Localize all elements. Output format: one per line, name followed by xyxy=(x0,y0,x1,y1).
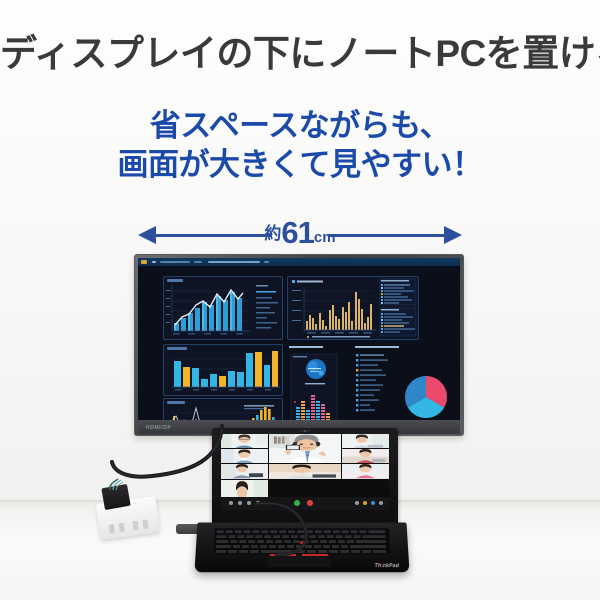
dashboard xyxy=(138,258,460,420)
join-button[interactable] xyxy=(294,500,300,506)
dashboard-grid xyxy=(141,268,457,417)
video-tile[interactable] xyxy=(342,449,389,463)
dimension-label: 約61cm xyxy=(138,215,462,251)
share-icon[interactable] xyxy=(247,501,251,505)
dimension-prefix: 約 xyxy=(264,224,281,243)
panel-title xyxy=(167,401,185,404)
outlet-socket[interactable] xyxy=(142,519,148,529)
dimension-value: 61 xyxy=(281,215,313,250)
keyboard-row xyxy=(216,545,388,548)
trackpad-left-button[interactable] xyxy=(270,554,296,556)
pie-graphic xyxy=(405,376,447,418)
dimension-annotation: 約61cm xyxy=(138,218,462,252)
panel-title xyxy=(167,279,183,282)
external-monitor: HDMI/DP xyxy=(134,254,464,436)
participants-icon[interactable] xyxy=(256,501,260,505)
camera-icon[interactable] xyxy=(238,501,242,505)
toolbar-title xyxy=(208,261,260,263)
settings-icon[interactable] xyxy=(371,501,375,505)
toolbar-item[interactable] xyxy=(194,261,202,263)
monitor-screen[interactable] xyxy=(138,258,460,420)
pie-chart-panel xyxy=(354,345,460,420)
video-tile[interactable] xyxy=(269,464,341,478)
webcam-icon xyxy=(300,430,310,432)
chart-legend xyxy=(256,285,278,329)
outlet-socket[interactable] xyxy=(133,521,139,531)
laptop-brand-logo: ThinkPad xyxy=(375,563,400,569)
chart-panel-mid-center[interactable] xyxy=(287,344,351,420)
cyan-amber-bar-chart xyxy=(164,345,282,395)
video-tile[interactable] xyxy=(221,434,268,448)
laptop-lid xyxy=(212,428,398,524)
plug-wire xyxy=(106,478,124,490)
laptop-screen[interactable] xyxy=(221,434,389,510)
chart-legend-list xyxy=(380,279,416,336)
keyboard-row xyxy=(216,550,389,553)
outlet-socket[interactable] xyxy=(119,523,125,533)
trackpad[interactable] xyxy=(268,556,331,567)
video-tile-active-speaker[interactable] xyxy=(269,434,341,463)
laptop-base: ThinkPad xyxy=(194,522,409,572)
page-title: ディスプレイの下にノートPCを置ける xyxy=(0,34,600,75)
subtitle-line-1: 省スペースながらも、 xyxy=(0,106,600,146)
video-tile[interactable] xyxy=(342,434,389,448)
reaction-icon[interactable] xyxy=(363,501,367,505)
end-call-button[interactable] xyxy=(307,500,313,506)
video-tile[interactable] xyxy=(221,464,268,478)
keyboard[interactable] xyxy=(214,528,391,554)
monitor-brand-logo: HDMI/DP xyxy=(146,425,171,431)
toolbar-icon[interactable] xyxy=(152,261,156,263)
chart-panel-bottom-left[interactable] xyxy=(163,398,283,420)
toolbar-action[interactable] xyxy=(264,261,269,263)
chart-panel-top-right[interactable] xyxy=(287,276,419,340)
panel-title xyxy=(167,347,187,350)
mic-icon[interactable] xyxy=(229,501,233,505)
trackpad-right-button[interactable] xyxy=(302,554,328,556)
laptop: ThinkPad xyxy=(196,428,408,588)
video-tile[interactable] xyxy=(342,464,389,478)
dashboard-toolbar[interactable] xyxy=(138,258,460,266)
chart-panel-bottom-right[interactable] xyxy=(353,344,460,420)
video-tile[interactable] xyxy=(221,449,268,463)
pie-legend xyxy=(356,354,388,411)
subtitle-line-2: 画面が大きくて見やすい！ xyxy=(0,145,600,185)
app-logo-icon xyxy=(141,260,147,264)
chat-icon[interactable] xyxy=(355,501,359,505)
trackpoint-icon[interactable] xyxy=(300,541,302,543)
gold-histogram-chart xyxy=(288,277,418,339)
outlet-socket[interactable] xyxy=(109,524,115,534)
chart-panel-mid-left[interactable] xyxy=(163,344,283,396)
bubble-stacked-chart xyxy=(288,345,350,420)
keyboard-row xyxy=(217,530,388,533)
keyboard-row xyxy=(216,535,387,538)
blue-bar-line-chart xyxy=(164,277,282,339)
video-call-toolbar[interactable] xyxy=(221,497,389,510)
more-icon[interactable] xyxy=(379,501,383,505)
toolbar-breadcrumb[interactable] xyxy=(160,261,190,263)
screenshot-root: ディスプレイの下にノートPCを置ける 省スペースながらも、 画面が大きくて見やす… xyxy=(0,0,600,600)
dimension-unit: cm xyxy=(314,229,336,246)
chart-panel-top-left[interactable] xyxy=(163,276,283,340)
